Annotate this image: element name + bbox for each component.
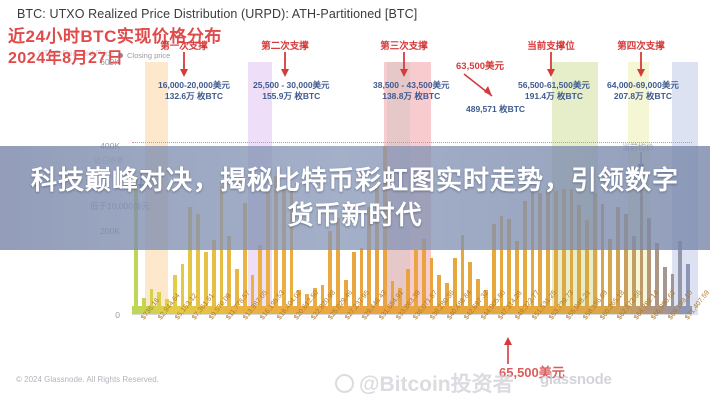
support-4-head: 第四次支撑	[617, 38, 665, 52]
diagonal-arrow-icon	[462, 72, 502, 104]
chart-legend: Closing price	[118, 51, 170, 60]
support-current-values: 56,500-61,500美元191.4万 枚BTC	[518, 80, 590, 101]
support-4-values: 64,000-69,000美元207.8万 枚BTC	[607, 80, 679, 101]
support-3-values: 38,500 - 43,500美元138.8万 枚BTC	[373, 80, 450, 101]
support-4-amount: 207.8万 枚BTC	[607, 91, 679, 102]
copyright-notice: © 2024 Glassnode. All Rights Reserved.	[16, 375, 159, 384]
watermark-glassnode: glassnode	[540, 371, 612, 388]
support-2-head: 第二次支撑	[261, 38, 309, 52]
support-1-amount: 132.6万 枚BTC	[158, 91, 230, 102]
support-1-head: 第一次支撑	[160, 38, 208, 52]
support-3-range: 38,500 - 43,500美元	[373, 80, 450, 91]
support-2-arrow-icon	[279, 52, 291, 78]
price-63500-label: 63,500美元	[456, 58, 504, 72]
support-current-arrow-icon	[545, 52, 557, 78]
support-4-range: 64,000-69,000美元	[607, 80, 679, 91]
weibo-logo-icon	[335, 374, 354, 393]
support-3-arrow-icon	[398, 52, 410, 78]
support-1-values: 16,000-20,000美元132.6万 枚BTC	[158, 80, 230, 101]
headline-overlay-text: 科技巅峰对决，揭秘比特币彩虹图实时走势，引领数字货币新时代	[0, 150, 710, 246]
support-2-values: 25,500 - 30,000美元155.9万 枚BTC	[253, 80, 330, 101]
bottom-price-arrow-icon	[502, 336, 514, 364]
support-3-head: 第三次支撑	[380, 38, 428, 52]
legend-label: Closing price	[127, 51, 170, 60]
support-current-amount: 191.4万 枚BTC	[518, 91, 590, 102]
support-2-range: 25,500 - 30,000美元	[253, 80, 330, 91]
support-4-arrow-icon	[635, 52, 647, 78]
bar	[212, 240, 216, 315]
current-price-dotted-line	[132, 142, 692, 143]
y-axis-tick: 600K	[100, 57, 120, 67]
watermark-weibo-text: @Bitcoin投资者	[359, 368, 514, 398]
price-63500-amount: 489,571 枚BTC	[466, 104, 525, 115]
y-axis-tick: 0	[115, 310, 120, 320]
support-1-arrow-icon	[178, 52, 190, 78]
support-current-range: 56,500-61,500美元	[518, 80, 590, 91]
support-current-head: 当前支撑位	[527, 38, 575, 52]
support-2-amount: 155.9万 枚BTC	[253, 91, 330, 102]
support-3-amount: 138.8万 枚BTC	[373, 91, 450, 102]
screenshot-root: BTC: UTXO Realized Price Distribution (U…	[0, 0, 710, 400]
support-1-range: 16,000-20,000美元	[158, 80, 230, 91]
x-axis: $736.16$2,944.64$5,153.12$7,361.61$9,570…	[132, 317, 692, 373]
chart-title: BTC: UTXO Realized Price Distribution (U…	[17, 7, 417, 21]
watermark-weibo: @Bitcoin投资者	[335, 368, 514, 398]
